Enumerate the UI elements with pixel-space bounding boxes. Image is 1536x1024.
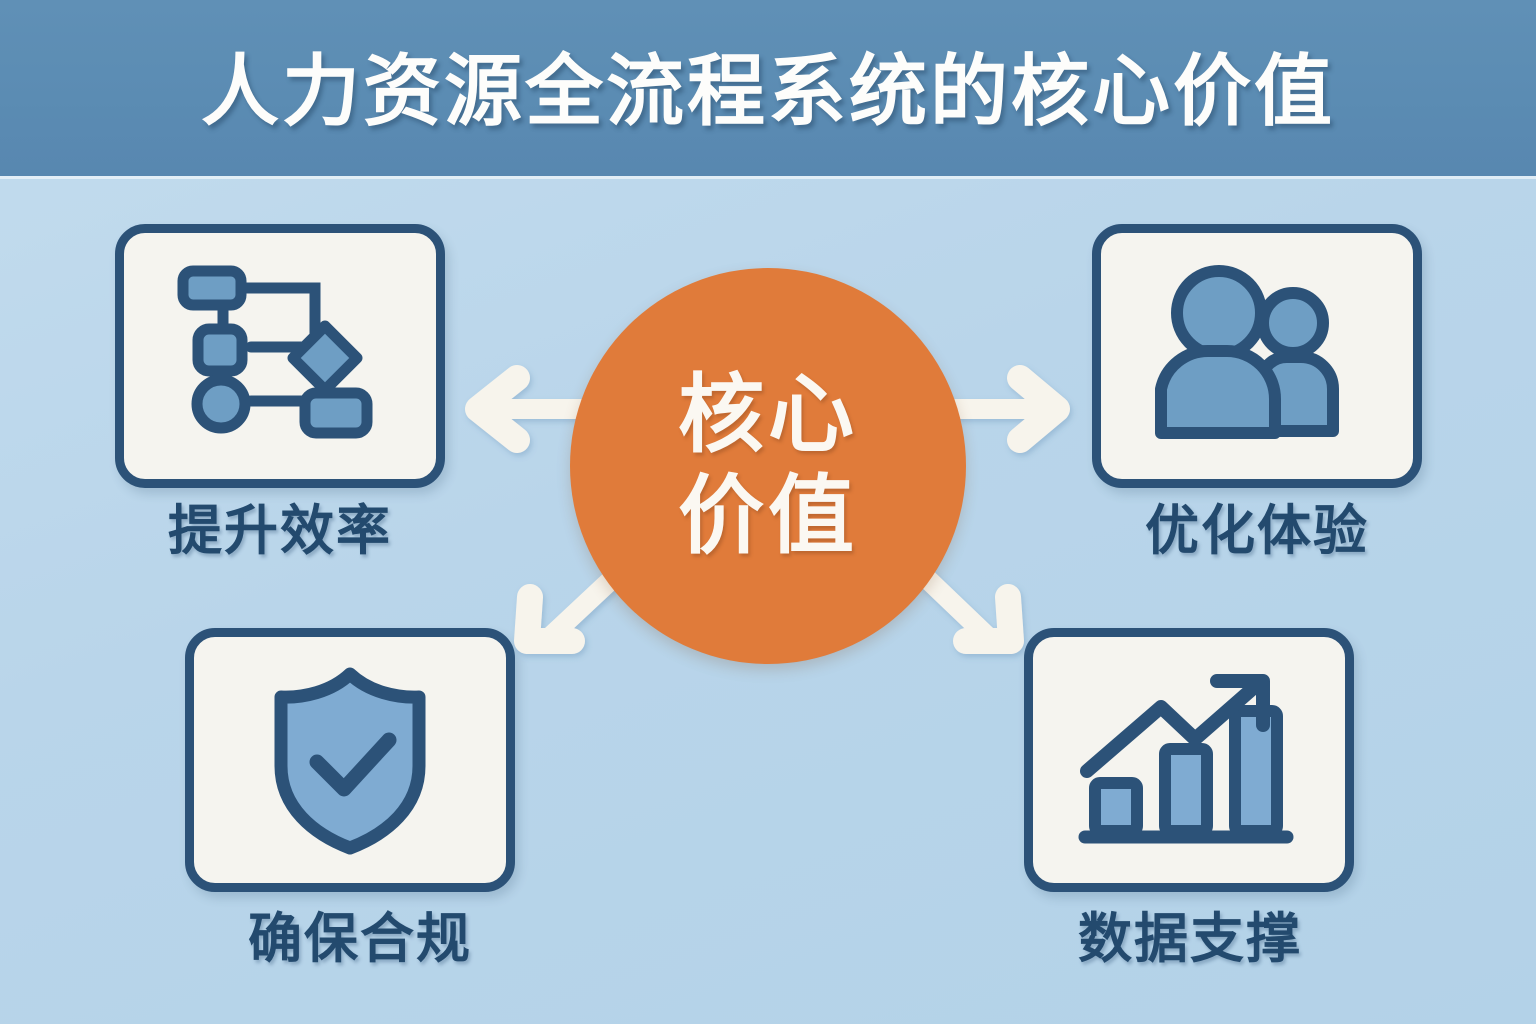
shield-check-icon [255, 662, 445, 858]
card-label-efficiency: 提升效率 [70, 504, 490, 558]
card-label-data-support: 数据支撑 [980, 912, 1400, 966]
card-data-support[interactable] [1024, 628, 1354, 892]
card-experience[interactable] [1092, 224, 1422, 488]
infographic-canvas: 人力资源全流程系统的核心价值 核心 价值 [0, 0, 1536, 1024]
card-compliance[interactable] [185, 628, 515, 892]
center-core-value-circle: 核心 价值 [570, 268, 966, 664]
card-label-experience: 优化体验 [1047, 504, 1467, 558]
card-efficiency[interactable] [115, 224, 445, 488]
center-label-line1: 核心 [678, 365, 858, 466]
people-icon [1143, 261, 1371, 451]
page-title: 人力资源全流程系统的核心价值 [0, 0, 1536, 176]
flowchart-icon [165, 261, 395, 451]
card-label-compliance: 确保合规 [150, 912, 570, 966]
center-label-line2: 价值 [678, 466, 858, 567]
bar-chart-growth-icon [1073, 665, 1305, 855]
